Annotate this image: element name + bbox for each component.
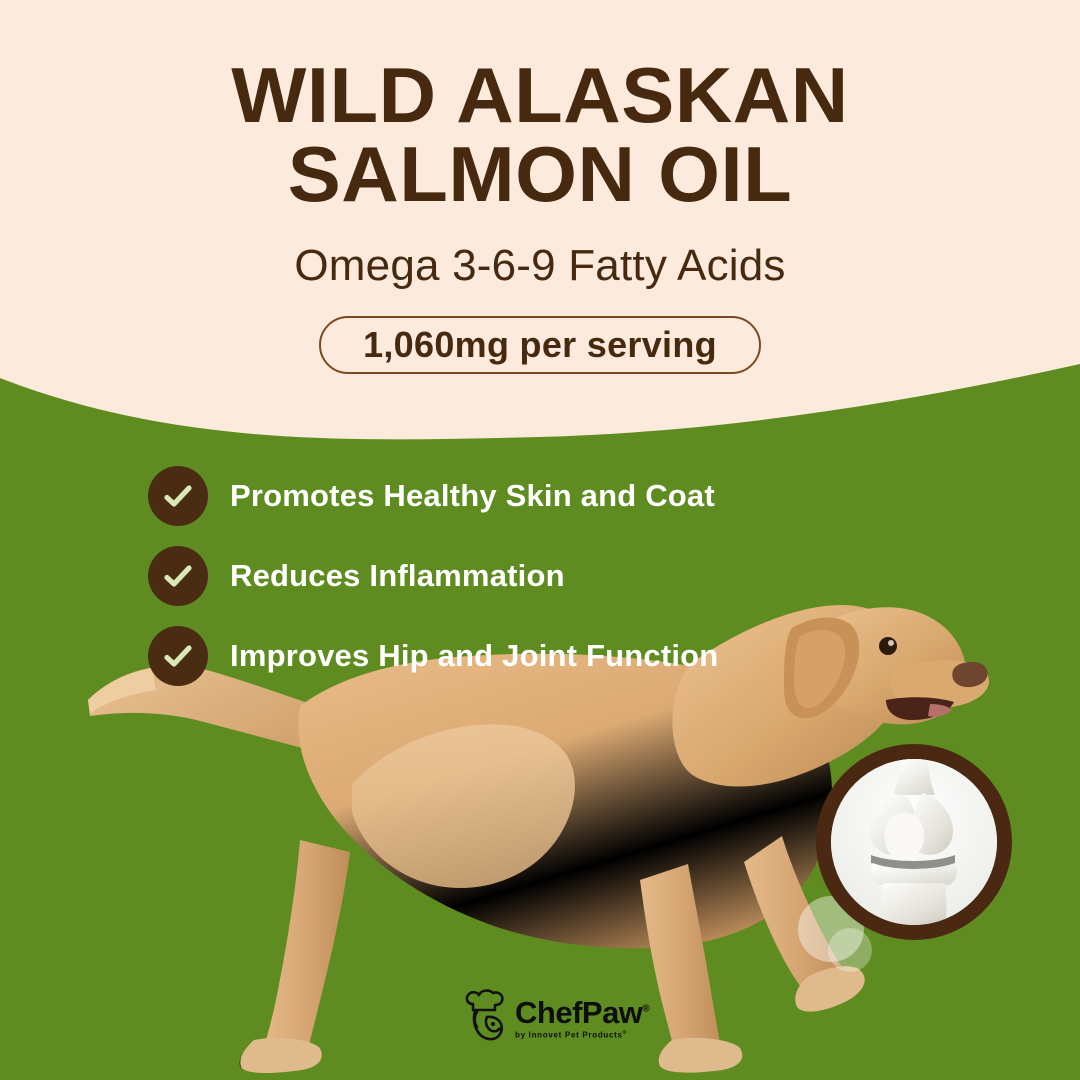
- product-poster: WILD ALASKAN SALMON OIL Omega 3-6-9 Fatt…: [0, 0, 1080, 1080]
- serving-badge-row: 1,060mg per serving: [0, 288, 1080, 374]
- chef-hat-dog-icon: [463, 988, 509, 1049]
- serving-badge: 1,060mg per serving: [319, 316, 761, 374]
- decorative-blob: [828, 928, 872, 972]
- benefit-item: Promotes Healthy Skin and Coat: [148, 466, 718, 526]
- page-title-line-2: SALMON OIL: [0, 133, 1080, 212]
- brand-logo[interactable]: ChefPaw® by Innovet Pet Products®: [463, 988, 633, 1049]
- benefit-item: Improves Hip and Joint Function: [148, 626, 718, 686]
- registered-mark: ®: [642, 1004, 649, 1015]
- check-icon: [148, 466, 208, 526]
- benefit-label: Improves Hip and Joint Function: [230, 638, 718, 674]
- joint-inset-circle: [816, 744, 1012, 940]
- benefits-list: Promotes Healthy Skin and Coat Reduces I…: [148, 466, 718, 686]
- logo-name: ChefPaw®: [515, 997, 649, 1028]
- knee-joint-icon: [831, 759, 997, 925]
- check-icon: [148, 546, 208, 606]
- header-block: WILD ALASKAN SALMON OIL Omega 3-6-9 Fatt…: [0, 0, 1080, 374]
- benefit-label: Reduces Inflammation: [230, 558, 565, 594]
- subtitle: Omega 3-6-9 Fatty Acids: [0, 212, 1080, 288]
- registered-mark: ®: [623, 1030, 627, 1036]
- benefit-label: Promotes Healthy Skin and Coat: [230, 478, 715, 514]
- logo-wordmark: ChefPaw® by Innovet Pet Products®: [515, 997, 649, 1040]
- benefit-item: Reduces Inflammation: [148, 546, 718, 606]
- check-icon: [148, 626, 208, 686]
- page-title-line-1: WILD ALASKAN: [0, 0, 1080, 133]
